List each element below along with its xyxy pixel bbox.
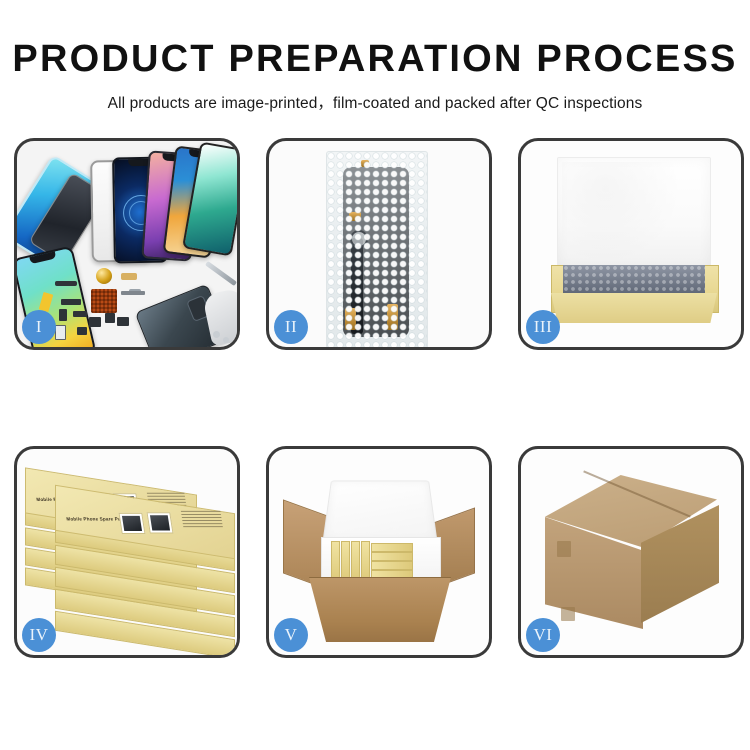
small-part-icon	[77, 327, 87, 335]
small-part-icon	[61, 299, 81, 305]
yellow-box-icon	[341, 541, 350, 583]
small-part-icon	[55, 325, 66, 340]
step-panel-5: V	[266, 446, 492, 658]
yellow-box-front-icon	[551, 293, 717, 323]
gold-speaker-part-icon	[96, 268, 112, 284]
flex-cable-icon	[121, 291, 145, 295]
box-window-product-icon	[150, 515, 170, 530]
step-badge-6: VI	[526, 618, 560, 652]
process-step-grid: I II	[14, 138, 736, 658]
step-badge-2: II	[274, 310, 308, 344]
small-part-icon	[59, 309, 67, 321]
carton-tape-icon	[557, 541, 571, 557]
step-panel-3: III	[518, 138, 744, 350]
step-panel-6: VI	[518, 446, 744, 658]
carton-tape-icon	[561, 607, 575, 621]
tweezers-icon	[205, 261, 237, 286]
step-panel-2: II	[266, 138, 492, 350]
gold-connector-icon	[121, 273, 137, 280]
step-panel-1: I	[14, 138, 240, 350]
carton-body-icon	[309, 577, 451, 642]
yellow-box-icon	[371, 552, 413, 561]
small-part-icon	[117, 317, 129, 326]
yellow-box-icon	[371, 561, 413, 570]
yellow-box-icon	[371, 543, 413, 552]
box-window-product-icon	[122, 516, 142, 531]
page-title: PRODUCT PREPARATION PROCESS	[0, 40, 750, 80]
notch-icon	[29, 251, 57, 264]
yellow-box-icon	[361, 541, 370, 583]
styrofoam-lid-icon	[322, 481, 437, 543]
step-badge-5: V	[274, 618, 308, 652]
product-preparation-infographic: PRODUCT PREPARATION PROCESS All products…	[0, 0, 750, 750]
step-badge-3: III	[526, 310, 560, 344]
header: PRODUCT PREPARATION PROCESS All products…	[0, 0, 750, 113]
box-text-lines	[181, 511, 223, 529]
small-part-icon	[55, 281, 77, 286]
yellow-boxes-group	[327, 541, 433, 581]
copper-grid-part-icon	[91, 289, 117, 313]
screw-icon	[213, 331, 220, 338]
step-panel-4: Mobile Phone Spare Parts Mobile	[14, 446, 240, 658]
bubble-wrap-fill-icon	[563, 265, 705, 295]
foam-lid-icon	[557, 157, 711, 271]
page-subtitle: All products are image-printed，film-coat…	[0, 91, 750, 113]
yellow-box-icon	[351, 541, 360, 583]
small-part-icon	[105, 313, 115, 323]
bubble-texture	[327, 152, 427, 347]
step-badge-4: IV	[22, 618, 56, 652]
box-window-icon	[147, 512, 174, 533]
box-window-icon	[119, 513, 146, 534]
small-part-icon	[73, 311, 87, 317]
step-badge-1: I	[22, 310, 56, 344]
small-part-icon	[89, 317, 101, 327]
screw-icon	[223, 337, 229, 343]
bubble-wrap-bag-icon	[326, 151, 428, 347]
yellow-box-icon	[331, 541, 340, 583]
